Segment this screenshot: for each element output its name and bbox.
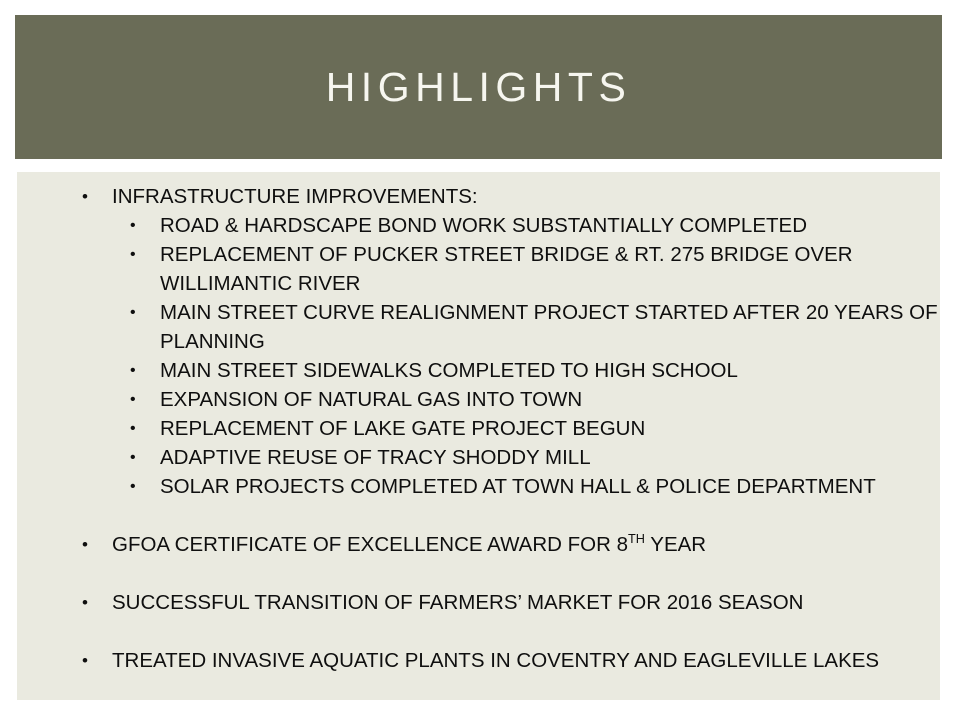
list-item-label: REPLACEMENT OF LAKE GATE PROJECT BEGUN <box>160 414 940 443</box>
list-item-text-part: YEAR <box>645 533 706 556</box>
list-item: •ADAPTIVE REUSE OF TRACY SHODDY MILL <box>130 443 940 472</box>
bullet-point-icon: • <box>130 414 160 443</box>
list-item-text-part: GFOA CERTIFICATE OF EXCELLENCE AWARD FOR… <box>112 533 628 556</box>
bullet-point-icon: • <box>130 298 160 327</box>
list-item-label: MAIN STREET CURVE REALIGNMENT PROJECT ST… <box>160 298 940 356</box>
bullet-point-icon: • <box>130 211 160 240</box>
list-item-label: EXPANSION OF NATURAL GAS INTO TOWN <box>160 385 940 414</box>
list-item: •EXPANSION OF NATURAL GAS INTO TOWN <box>130 385 940 414</box>
list-item: •MAIN STREET CURVE REALIGNMENT PROJECT S… <box>130 298 940 356</box>
page-title: HIGHLIGHTS <box>326 67 632 108</box>
slide-title-band: HIGHLIGHTS <box>15 15 942 159</box>
bullet-point-icon: • <box>130 356 160 385</box>
bullet-point-icon: • <box>130 472 160 501</box>
bullet-point-icon: • <box>130 240 160 269</box>
list-item: •INFRASTRUCTURE IMPROVEMENTS: <box>82 182 940 211</box>
list-item: •MAIN STREET SIDEWALKS COMPLETED TO HIGH… <box>130 356 940 385</box>
list-item-label: SUCCESSFUL TRANSITION OF FARMERS’ MARKET… <box>112 588 940 617</box>
bullet-point-icon: • <box>130 385 160 414</box>
list-item: •SUCCESSFUL TRANSITION OF FARMERS’ MARKE… <box>82 588 940 617</box>
list-item-label: ROAD & HARDSCAPE BOND WORK SUBSTANTIALLY… <box>160 211 940 240</box>
presentation-slide: HIGHLIGHTS •INFRASTRUCTURE IMPROVEMENTS:… <box>0 0 960 720</box>
list-item: •GFOA CERTIFICATE OF EXCELLENCE AWARD FO… <box>82 530 940 559</box>
list-item-label: REPLACEMENT OF PUCKER STREET BRIDGE & RT… <box>160 240 940 298</box>
bullet-point-icon: • <box>130 443 160 472</box>
list-item-label: INFRASTRUCTURE IMPROVEMENTS: <box>112 182 940 211</box>
list-item: •ROAD & HARDSCAPE BOND WORK SUBSTANTIALL… <box>130 211 940 240</box>
list-item: •SOLAR PROJECTS COMPLETED AT TOWN HALL &… <box>130 472 940 501</box>
ordinal-suffix: TH <box>628 531 645 546</box>
list-item-label: ADAPTIVE REUSE OF TRACY SHODDY MILL <box>160 443 940 472</box>
bullet-point-icon: • <box>82 530 112 559</box>
bullet-list: •INFRASTRUCTURE IMPROVEMENTS:•ROAD & HAR… <box>17 182 940 675</box>
list-item: •REPLACEMENT OF LAKE GATE PROJECT BEGUN <box>130 414 940 443</box>
list-item-label: GFOA CERTIFICATE OF EXCELLENCE AWARD FOR… <box>112 530 940 559</box>
list-item: •TREATED INVASIVE AQUATIC PLANTS IN COVE… <box>82 646 940 675</box>
list-item-label: TREATED INVASIVE AQUATIC PLANTS IN COVEN… <box>112 646 940 675</box>
list-item-label: MAIN STREET SIDEWALKS COMPLETED TO HIGH … <box>160 356 940 385</box>
bullet-point-icon: • <box>82 646 112 675</box>
slide-content-panel: •INFRASTRUCTURE IMPROVEMENTS:•ROAD & HAR… <box>17 172 940 700</box>
bullet-point-icon: • <box>82 588 112 617</box>
list-item-label: SOLAR PROJECTS COMPLETED AT TOWN HALL & … <box>160 472 940 501</box>
list-item: •REPLACEMENT OF PUCKER STREET BRIDGE & R… <box>130 240 940 298</box>
bullet-point-icon: • <box>82 182 112 211</box>
